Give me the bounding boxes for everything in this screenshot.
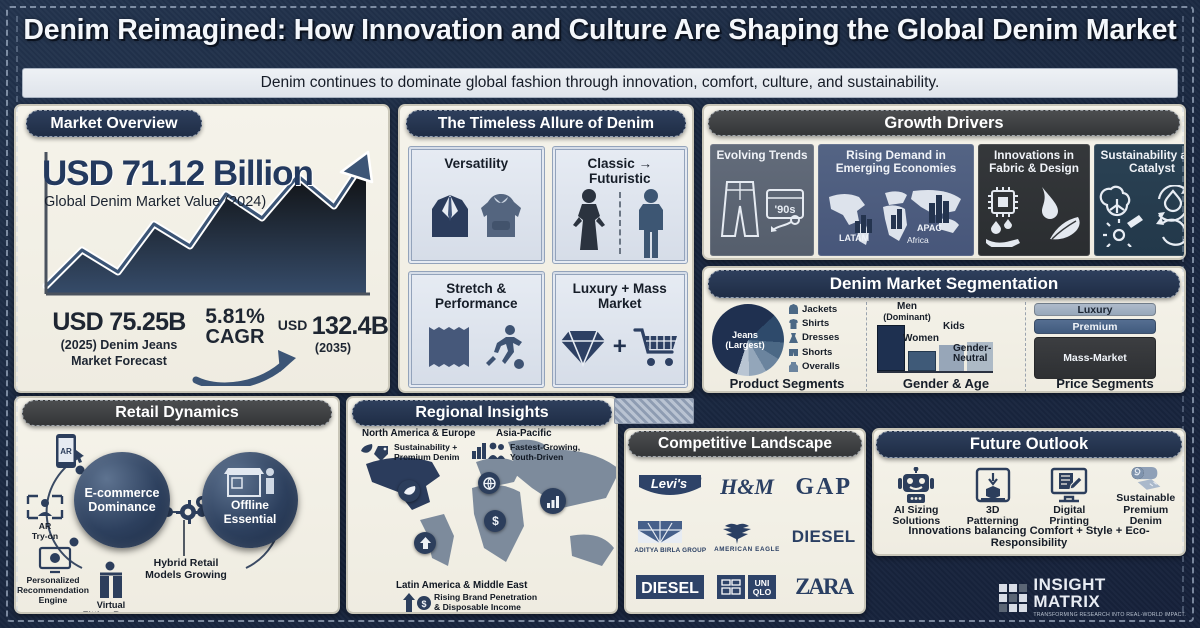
cotton-icon — [1101, 187, 1129, 215]
wide-leg-jeans-icon — [719, 178, 761, 240]
region-pin-europe[interactable] — [478, 472, 500, 494]
growth-card-emerging-economies[interactable]: Rising Demand in Emerging Economies LATA… — [818, 144, 974, 256]
cagr-percent: 5.81% — [192, 306, 278, 327]
allure-card-versatility[interactable]: Versatility — [408, 146, 545, 264]
virtual-fitting-room-icon — [98, 572, 124, 602]
panel-regional-insights: $ North America & Europe Sustainability … — [346, 396, 618, 614]
gender-age-caption: Gender & Age — [867, 376, 1025, 392]
brand-logo-diesel-1[interactable]: DIESEL — [792, 527, 856, 547]
logo-line-2: MATRIX — [1033, 594, 1186, 610]
retail-label-virtual-fitting: VirtualFitting Room — [78, 600, 144, 614]
regional-title-text: Regional Insights — [415, 404, 548, 422]
legend-item-overalls: Overalls — [788, 360, 840, 374]
svg-text:DIESEL: DIESEL — [641, 580, 699, 597]
forecast-2035-currency: USD — [278, 317, 308, 333]
globe-icon — [483, 477, 496, 490]
cagr-block: 5.81% CAGR — [192, 306, 278, 348]
leaf-tag-icons — [360, 442, 392, 462]
market-overview-title-text: Market Overview — [50, 115, 177, 133]
future-outlook-footer: Innovations balancing Comfort + Style + … — [874, 525, 1184, 549]
price-tier-mass-market: Mass-Market — [1034, 337, 1156, 379]
market-forecast-row: USD 75.25B (2025) Denim Jeans Market For… — [16, 302, 388, 392]
forecast-2025-caption-2: Market Forecast — [34, 354, 204, 369]
retail-node-ecommerce[interactable]: E-commerce Dominance — [74, 452, 170, 548]
svg-text:QLO: QLO — [753, 587, 772, 597]
panel-title-competitive-landscape: Competitive Landscape — [628, 431, 862, 457]
pie-legend: Jackets Shirts Dresses Shorts Overalls — [788, 302, 840, 374]
growth-card-label: Evolving Trends — [716, 149, 807, 162]
growth-card-fabric-design[interactable]: Innovations in Fabric & Design — [978, 144, 1090, 256]
divider-dashed — [619, 192, 621, 254]
region-pin-sustainability[interactable] — [398, 480, 420, 502]
ar-tryon-icon — [24, 492, 66, 522]
region-text-apac: Fastest-Growing, Youth-Driven — [510, 442, 580, 462]
growth-card-label: Innovations in Fabric & Design — [981, 149, 1087, 176]
pie-main-label: Jeans (Largest) — [714, 330, 776, 350]
brand-logo-uniqlo[interactable]: UNI QLO — [716, 574, 778, 600]
brand-logo-zara[interactable]: ZARA — [795, 574, 852, 600]
brand-logo-hm[interactable]: H&M — [720, 474, 774, 500]
denim-swatch-decoration — [614, 398, 694, 424]
brand-logo-gap[interactable]: GAP — [795, 474, 852, 501]
growth-card-evolving-trends[interactable]: Evolving Trends '90s — [710, 144, 814, 256]
header: Denim Reimagined: How Innovation and Cul… — [0, 14, 1200, 47]
segment-col-price: Luxury Premium Mass-Market Price Segment… — [1025, 302, 1184, 392]
brand-logo-levis[interactable]: Levi's ® — [637, 473, 703, 501]
allure-card-luxury-mass[interactable]: Luxury + Mass Market + — [552, 271, 689, 389]
allure-card-label: Luxury + Mass Market — [556, 281, 685, 311]
competitive-title-text: Competitive Landscape — [658, 435, 832, 453]
allure-card-label: Classic → Futuristic — [556, 156, 685, 186]
svg-text:®: ® — [697, 476, 702, 483]
panel-title-regional-insights: Regional Insights — [352, 400, 612, 426]
ar-phone-icon: AR — [54, 432, 88, 472]
allure-card-label: Versatility — [444, 156, 508, 171]
price-tier-premium: Premium — [1034, 319, 1156, 334]
map-label-africa: Africa — [907, 235, 929, 245]
brand-logo-diesel-2[interactable]: DIESEL — [635, 574, 705, 600]
svg-text:$: $ — [492, 514, 499, 528]
market-headline-value: USD 71.12 Billion — [42, 154, 313, 194]
svg-text:'90s: '90s — [775, 204, 796, 216]
future-title-text: Future Outlook — [970, 435, 1088, 454]
segment-col-product: Jeans (Largest) Jackets Shirts Dresses S… — [708, 302, 866, 392]
future-item-ai-sizing[interactable]: AI Sizing Solutions — [878, 464, 955, 528]
map-label-apac: APAC — [917, 223, 942, 233]
bar-label-women: Women — [903, 334, 939, 345]
hoodie-icon — [478, 189, 524, 241]
growth-card-sustainability[interactable]: Sustainability as a Catalyst — [1094, 144, 1186, 256]
region-text-na-eu: Sustainability + Premium Denim — [394, 442, 459, 462]
legend-item-dresses: Dresses — [788, 331, 840, 345]
man-silhouette-icon — [631, 187, 671, 259]
panel-retail-dynamics: E-commerce Dominance Offline Essential A… — [14, 396, 340, 614]
bar-growth-icon — [546, 494, 561, 509]
runner-icon — [479, 323, 527, 371]
cagr-label: CAGR — [192, 327, 278, 348]
panel-title-future-outlook: Future Outlook — [876, 431, 1182, 458]
region-heading-latam-me: Latin America & Middle East — [396, 580, 527, 592]
robot-icon — [898, 467, 934, 505]
price-tier-luxury: Luxury — [1034, 303, 1156, 316]
fabric-swatch-icon — [425, 323, 473, 371]
allure-title-text: The Timeless Allure of Denim — [438, 115, 654, 133]
storefront-icon — [222, 458, 278, 498]
region-pin-growth[interactable] — [540, 488, 566, 514]
segmentation-title-text: Denim Market Segmentation — [830, 274, 1059, 294]
product-segments-caption: Product Segments — [708, 376, 866, 392]
region-pin-dollar[interactable]: $ — [484, 510, 506, 532]
insight-matrix-logo: INSIGHT MATRIX TRANSFORMING RESEARCH INT… — [999, 577, 1186, 618]
leaf-icon — [403, 485, 416, 498]
cagr-arrow-icon — [192, 346, 304, 386]
bar-women — [908, 351, 936, 371]
hand-drops-icon — [986, 219, 1020, 247]
bar-label-kids: Kids — [943, 322, 965, 333]
panel-title-growth-drivers: Growth Drivers — [708, 110, 1180, 136]
forecast-2025-caption-1: (2025) Denim Jeans — [34, 338, 204, 353]
svg-text:$: $ — [421, 599, 426, 609]
future-item-3d-patterning[interactable]: 3D Patterning — [955, 464, 1032, 528]
region-heading-apac: Asia-Pacific — [496, 428, 552, 440]
bar-men — [877, 325, 905, 371]
logo-tagline: TRANSFORMING RESEARCH INTO REAL-WORLD IM… — [1033, 612, 1186, 618]
dollar-icon: $ — [489, 514, 502, 528]
page-subtitle: Denim continues to dominate global fashi… — [261, 74, 940, 92]
page-title: Denim Reimagined: How Innovation and Cul… — [0, 14, 1200, 47]
segment-col-gender: Men(Dominant) Women Kids Gender-Neutral … — [866, 302, 1025, 392]
subtitle-bar: Denim continues to dominate global fashi… — [22, 68, 1178, 98]
legend-item-shirts: Shirts — [788, 316, 840, 330]
growth-drivers-title-text: Growth Drivers — [884, 114, 1003, 133]
panel-title-retail-dynamics: Retail Dynamics — [22, 400, 332, 426]
bar-label-men: Men(Dominant) — [879, 302, 935, 323]
future-item-digital-printing[interactable]: Digital Printing — [1031, 464, 1108, 528]
3d-printer-icon — [975, 467, 1011, 505]
fabric-roll-icon — [1125, 464, 1167, 493]
legend-item-jackets: Jackets — [788, 302, 840, 316]
region-heading-na-eu: North America & Europe — [362, 428, 475, 440]
plus-sign: + — [613, 333, 627, 361]
growth-card-label: Rising Demand in Emerging Economies — [821, 149, 971, 176]
diamond-icon — [559, 325, 607, 369]
svg-text:Levi's: Levi's — [651, 476, 687, 491]
growth-people-icons — [472, 441, 508, 461]
brand-logo-aditya-birla[interactable]: ADITYA BIRLA GROUP — [634, 520, 706, 554]
map-label-latam: LATAM — [839, 233, 869, 243]
svg-text:AR: AR — [60, 447, 72, 456]
retail-label-ar-tryon: ARTry-on — [20, 522, 70, 542]
water-drop-icon — [1042, 187, 1058, 219]
forecast-2025: USD 75.25B (2025) Denim Jeans Market For… — [34, 308, 204, 369]
nineties-browser-icon: '90s — [765, 186, 805, 232]
recommendation-engine-icon — [36, 546, 74, 576]
growth-card-label: Sustainability as a Catalyst — [1097, 149, 1186, 176]
shopping-cart-icon — [633, 325, 681, 369]
allure-card-label: Stretch & Performance — [412, 281, 541, 311]
forecast-2025-value: USD 75.25B — [34, 308, 204, 337]
blazer-icon — [428, 189, 472, 241]
panel-title-allure: The Timeless Allure of Denim — [406, 110, 686, 137]
world-map-icon: LATAM APAC Africa — [821, 185, 971, 247]
up-arrow-icon — [419, 536, 432, 550]
retail-title-text: Retail Dynamics — [115, 404, 239, 422]
panel-timeless-allure: Versatility Classic → Futuristic — [398, 104, 694, 393]
market-headline-caption: Global Denim Market Value (2024) — [44, 194, 266, 210]
logo-mark-icon — [999, 584, 1027, 612]
water-recycle-icon — [1158, 185, 1186, 220]
woman-silhouette-icon — [569, 187, 609, 259]
brand-logo-american-eagle[interactable]: AMERICAN EAGLE — [714, 522, 780, 553]
price-segments-chart: Luxury Premium Mass-Market — [1034, 303, 1156, 382]
future-item-sustainable-denim[interactable]: Sustainable Premium Denim — [1108, 464, 1185, 528]
laser-icon — [1103, 215, 1143, 247]
panel-market-overview: USD 71.12 Billion Global Denim Market Va… — [14, 104, 390, 393]
panel-title-segmentation: Denim Market Segmentation — [708, 270, 1180, 298]
retail-label-hybrid: Hybrid Retail Models Growing — [144, 558, 228, 582]
legend-item-shorts: Shorts — [788, 345, 840, 359]
allure-card-stretch-performance[interactable]: Stretch & Performance — [408, 271, 545, 389]
region-pin-rising[interactable] — [414, 532, 436, 554]
bar-label-gender-neutral: Gender-Neutral — [953, 344, 991, 364]
forecast-2035-value: 132.4B — [312, 312, 388, 341]
panel-title-market-overview: Market Overview — [26, 110, 202, 137]
region-text-latam-me: Rising Brand Penetration & Disposable In… — [434, 592, 537, 612]
chip-icon — [988, 187, 1018, 217]
arrow-money-icons: $ — [402, 592, 432, 614]
digital-printing-icon — [1049, 467, 1089, 505]
future-item-label: Sustainable Premium Denim — [1108, 493, 1185, 528]
allure-card-classic-futuristic[interactable]: Classic → Futuristic — [552, 146, 689, 264]
